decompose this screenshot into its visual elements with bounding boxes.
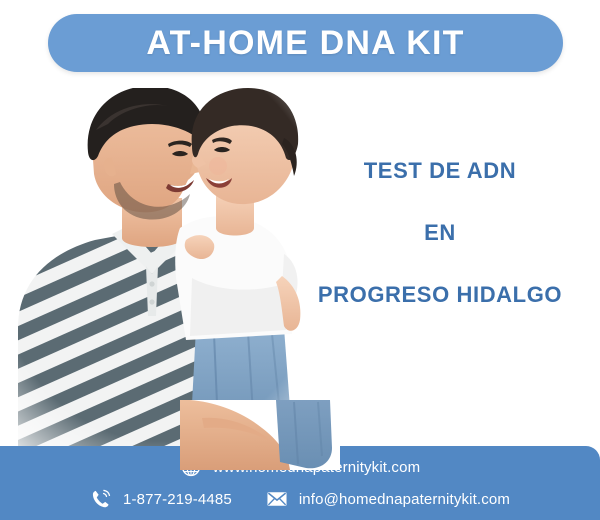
phone-icon (90, 488, 112, 510)
family-photo (0, 78, 320, 450)
headline-line-1: TEST DE ADN (296, 160, 584, 182)
footer-row-website: www.homednapaternitykit.com (0, 456, 600, 478)
banner-title: AT-HOME DNA KIT (146, 26, 464, 60)
footer-email-text: info@homednapaternitykit.com (299, 491, 510, 508)
footer-contact-bar: www.homednapaternitykit.com 1-877-219-44… (0, 446, 600, 520)
header-banner: AT-HOME DNA KIT (48, 14, 563, 72)
footer-email-item[interactable]: info@homednapaternitykit.com (266, 488, 510, 510)
family-photo-illustration (0, 78, 320, 450)
headline-line-3: PROGRESO HIDALGO (296, 284, 584, 306)
footer-row-phone-email: 1-877-219-4485 info@homednapaternitykit.… (0, 488, 600, 510)
headline-block: TEST DE ADN EN PROGRESO HIDALGO (296, 160, 584, 306)
footer-phone-item[interactable]: 1-877-219-4485 (90, 488, 232, 510)
footer-website-text: www.homednapaternitykit.com (213, 459, 420, 476)
footer-website-item[interactable]: www.homednapaternitykit.com (180, 456, 420, 478)
footer-phone-text: 1-877-219-4485 (123, 491, 232, 508)
promo-graphic: AT-HOME DNA KIT (0, 0, 600, 520)
globe-icon (180, 456, 202, 478)
envelope-icon (266, 488, 288, 510)
headline-line-2: EN (296, 222, 584, 244)
